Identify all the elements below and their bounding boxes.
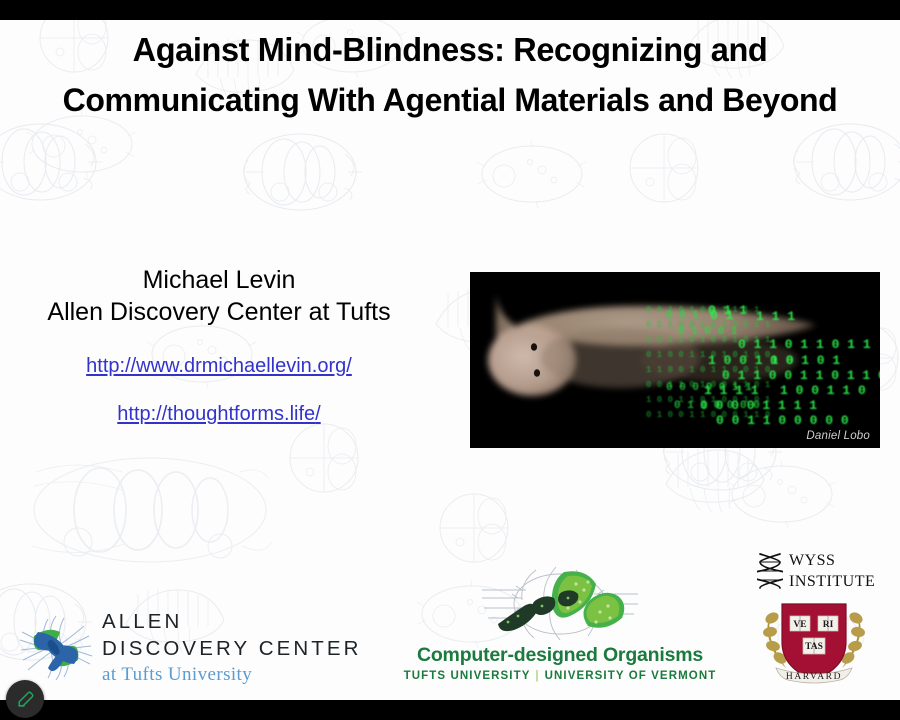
title-line-2: Communicating With Agential Materials an… — [13, 75, 888, 126]
link-drmichaellevin-slash: / — [346, 355, 352, 377]
pencil-icon — [16, 690, 35, 709]
author-name: Michael Levin — [14, 264, 424, 296]
slide-canvas: Against Mind-Blindness: Recognizing and … — [0, 20, 900, 700]
harvard-word-3: TAS — [805, 642, 823, 652]
slide-viewer: Against Mind-Blindness: Recognizing and … — [0, 0, 900, 720]
wyss-institute-logo: WYSS INSTITUTE — [757, 550, 877, 594]
svg-text:0 1 1 0 0 0 0: 0 1 1 0 0 0 0 — [674, 400, 760, 412]
harvard-word-1: VE — [793, 620, 806, 630]
edit-button[interactable] — [6, 680, 44, 718]
title-line-1: Against Mind-Blindness: Recognizing and — [13, 24, 888, 75]
link-thoughtforms[interactable]: http://thoughtforms.life/ — [14, 402, 424, 426]
planarian-figure: 0 0 1 0 1 0 0 1 1 1 1 0 1 1 0 0 1 0 1 0 … — [470, 272, 880, 448]
wyss-wordmark: WYSS INSTITUTE — [789, 550, 875, 592]
letterbox-top — [0, 0, 900, 20]
link-drmichaellevin[interactable]: http://www.drmichaellevin.org/ — [14, 354, 424, 378]
cdo-partner-1: TUFTS UNIVERSITY — [404, 670, 531, 682]
wyss-line-1: WYSS — [789, 550, 875, 571]
link-thoughtforms-slash: / — [315, 403, 321, 425]
cdo-partners: TUFTS UNIVERSITY|UNIVERSITY OF VERMONT — [395, 668, 725, 684]
allen-line-2: DISCOVERY CENTER — [102, 635, 362, 662]
harvard-shield-icon: VE RI TAS HARVARD — [762, 594, 866, 688]
xenobot-swirl-icon — [476, 564, 644, 642]
svg-text:1 0 0 1 1 0: 1 0 0 1 1 0 — [780, 383, 866, 398]
cdo-title: Computer-designed Organisms — [395, 643, 725, 667]
allen-wordmark: ALLEN DISCOVERY CENTER at Tufts Universi… — [102, 608, 362, 687]
slide-title: Against Mind-Blindness: Recognizing and … — [0, 24, 900, 126]
link-drmichaellevin-text: http://www.drmichaellevin.org — [86, 355, 346, 377]
author-affiliation: Allen Discovery Center at Tufts — [14, 296, 424, 328]
harvard-word-2: RI — [823, 620, 834, 630]
harvard-shield-logo: VE RI TAS HARVARD — [762, 594, 866, 688]
svg-text:0 1 1 0 1 1 0 1 1: 0 1 1 0 1 1 0 1 1 — [738, 337, 871, 352]
allen-line-1: ALLEN — [102, 608, 362, 635]
link-thoughtforms-text: http://thoughtforms.life — [117, 403, 315, 425]
allen-bird-swirl-icon — [18, 610, 94, 686]
planarian-figure-image: 0 0 1 0 1 0 0 1 1 1 1 0 1 1 0 0 1 0 1 0 … — [470, 272, 880, 448]
svg-text:0 0 1: 0 0 1 — [666, 310, 699, 322]
computer-designed-organisms-logo: Computer-designed Organisms TUFTS UNIVER… — [395, 564, 725, 684]
cdo-partner-2: UNIVERSITY OF VERMONT — [545, 670, 717, 682]
svg-text:0 1 1 0 0 1 1 0 1 1 0 1: 0 1 1 0 0 1 1 0 1 1 0 1 — [722, 368, 880, 383]
wyss-line-2: INSTITUTE — [789, 571, 875, 592]
author-block: Michael Levin Allen Discovery Center at … — [14, 264, 424, 450]
harvard-banner-text: HARVARD — [786, 672, 842, 682]
svg-text:0 1 0 0 1: 0 1 0 0 1 — [678, 326, 738, 338]
svg-text:0 1: 0 1 — [710, 308, 734, 323]
figure-credit: Daniel Lobo — [806, 430, 870, 442]
svg-text:0 0 1 0 1: 0 0 1 0 1 — [770, 353, 840, 368]
wyss-helix-icon — [757, 551, 783, 591]
svg-text:0 0 1 1 0 0 0 0 0: 0 0 1 1 0 0 0 0 0 — [716, 413, 849, 428]
logo-bar: ALLEN DISCOVERY CENTER at Tufts Universi… — [0, 570, 900, 700]
cdo-divider: | — [531, 670, 545, 682]
svg-text:0 0 0 0 0 1 1: 0 0 0 0 0 1 1 — [666, 382, 752, 394]
allen-discovery-center-logo: ALLEN DISCOVERY CENTER at Tufts Universi… — [18, 604, 378, 692]
svg-text:1 1 1: 1 1 1 — [756, 309, 795, 324]
link-list: http://www.drmichaellevin.org/ http://th… — [14, 354, 424, 426]
letterbox-bottom — [0, 700, 900, 720]
allen-line-3: at Tufts University — [102, 662, 362, 687]
